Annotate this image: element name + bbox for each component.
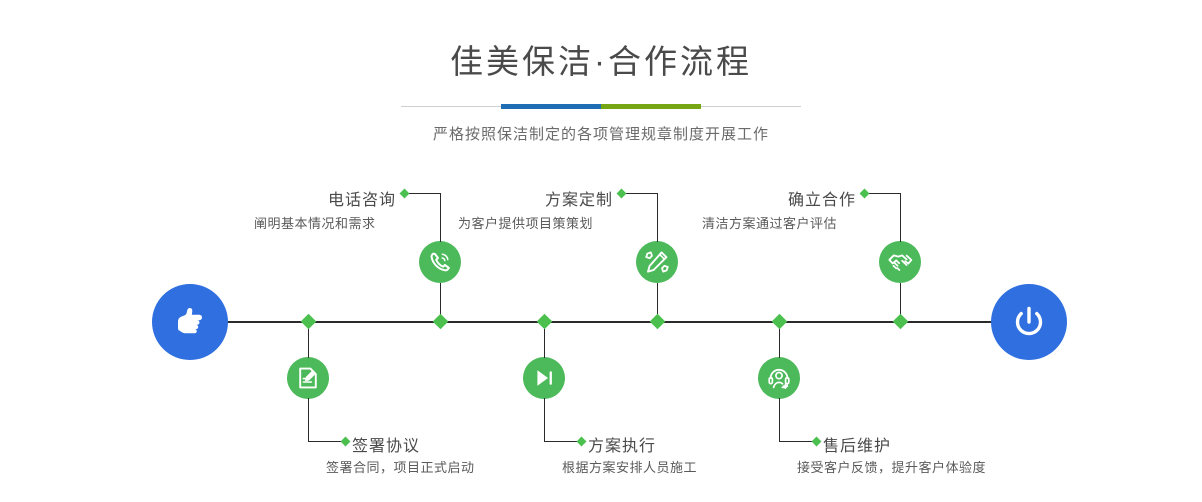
flowchart-canvas: 佳美保洁·合作流程 严格按照保洁制定的各项管理规章制度开展工作 [0, 0, 1202, 502]
step-3-axis-marker [650, 314, 666, 330]
document-pen-icon [295, 365, 321, 391]
page-subtitle: 严格按照保洁制定的各项管理规章制度开展工作 [0, 123, 1202, 144]
step-6-axis-marker [772, 314, 788, 330]
step-2-title: 签署协议 [352, 432, 420, 456]
play-execute-icon [531, 365, 557, 391]
divider-segment-blue [501, 104, 601, 109]
step-2-connector-vertical-lower [308, 398, 309, 441]
step-2-label-marker [341, 437, 351, 447]
step-5-desc: 清洁方案通过客户评估 [702, 213, 837, 232]
step-2-axis-marker [301, 314, 317, 330]
step-5-title: 确立合作 [660, 186, 856, 210]
step-6-label-marker [812, 437, 822, 447]
step-1-axis-marker [433, 314, 449, 330]
timeline-end-node[interactable] [991, 284, 1067, 360]
step-6-icon-bubble[interactable] [758, 357, 800, 399]
pencil-ruler-icon [644, 249, 670, 275]
step-4-icon-bubble[interactable] [523, 357, 565, 399]
step-2-icon-bubble[interactable] [287, 357, 329, 399]
power-icon [1007, 300, 1051, 344]
page-title: 佳美保洁·合作流程 [0, 45, 1202, 78]
step-3-label-marker [617, 189, 627, 199]
phone-call-icon [427, 249, 453, 275]
handshake-icon [887, 249, 914, 276]
step-1-label-marker [400, 189, 410, 199]
step-5-icon-bubble[interactable] [879, 241, 921, 283]
step-3-icon-bubble[interactable] [636, 241, 678, 283]
step-5-axis-marker [893, 314, 909, 330]
step-4-connector-vertical-lower [544, 398, 545, 441]
step-4-desc: 根据方案安排人员施工 [562, 457, 697, 476]
divider-segment-green [601, 104, 701, 109]
step-4-axis-marker [537, 314, 553, 330]
pointing-hand-icon [169, 301, 211, 343]
step-3-title: 方案定制 [417, 186, 613, 210]
step-1-desc: 阐明基本情况和需求 [254, 213, 376, 232]
step-6-connector-vertical-lower [779, 398, 780, 441]
step-5-label-marker [860, 189, 870, 199]
step-4-title: 方案执行 [588, 432, 656, 456]
headset-support-icon [766, 365, 792, 391]
step-2-desc: 签署合同，项目正式启动 [326, 457, 475, 476]
step-4-label-marker [577, 437, 587, 447]
step-1-title: 电话咨询 [200, 186, 396, 210]
step-1-icon-bubble[interactable] [419, 241, 461, 283]
step-5-connector-vertical-upper [900, 193, 901, 242]
header: 佳美保洁·合作流程 严格按照保洁制定的各项管理规章制度开展工作 [0, 0, 1202, 144]
timeline-start-node[interactable] [152, 284, 228, 360]
step-6-desc: 接受客户反馈，提升客户体验度 [797, 457, 986, 476]
title-divider [401, 104, 801, 109]
step-3-desc: 为客户提供项目策策划 [458, 213, 593, 232]
step-6-title: 售后维护 [823, 432, 891, 456]
step-3-connector-vertical-upper [657, 193, 658, 242]
